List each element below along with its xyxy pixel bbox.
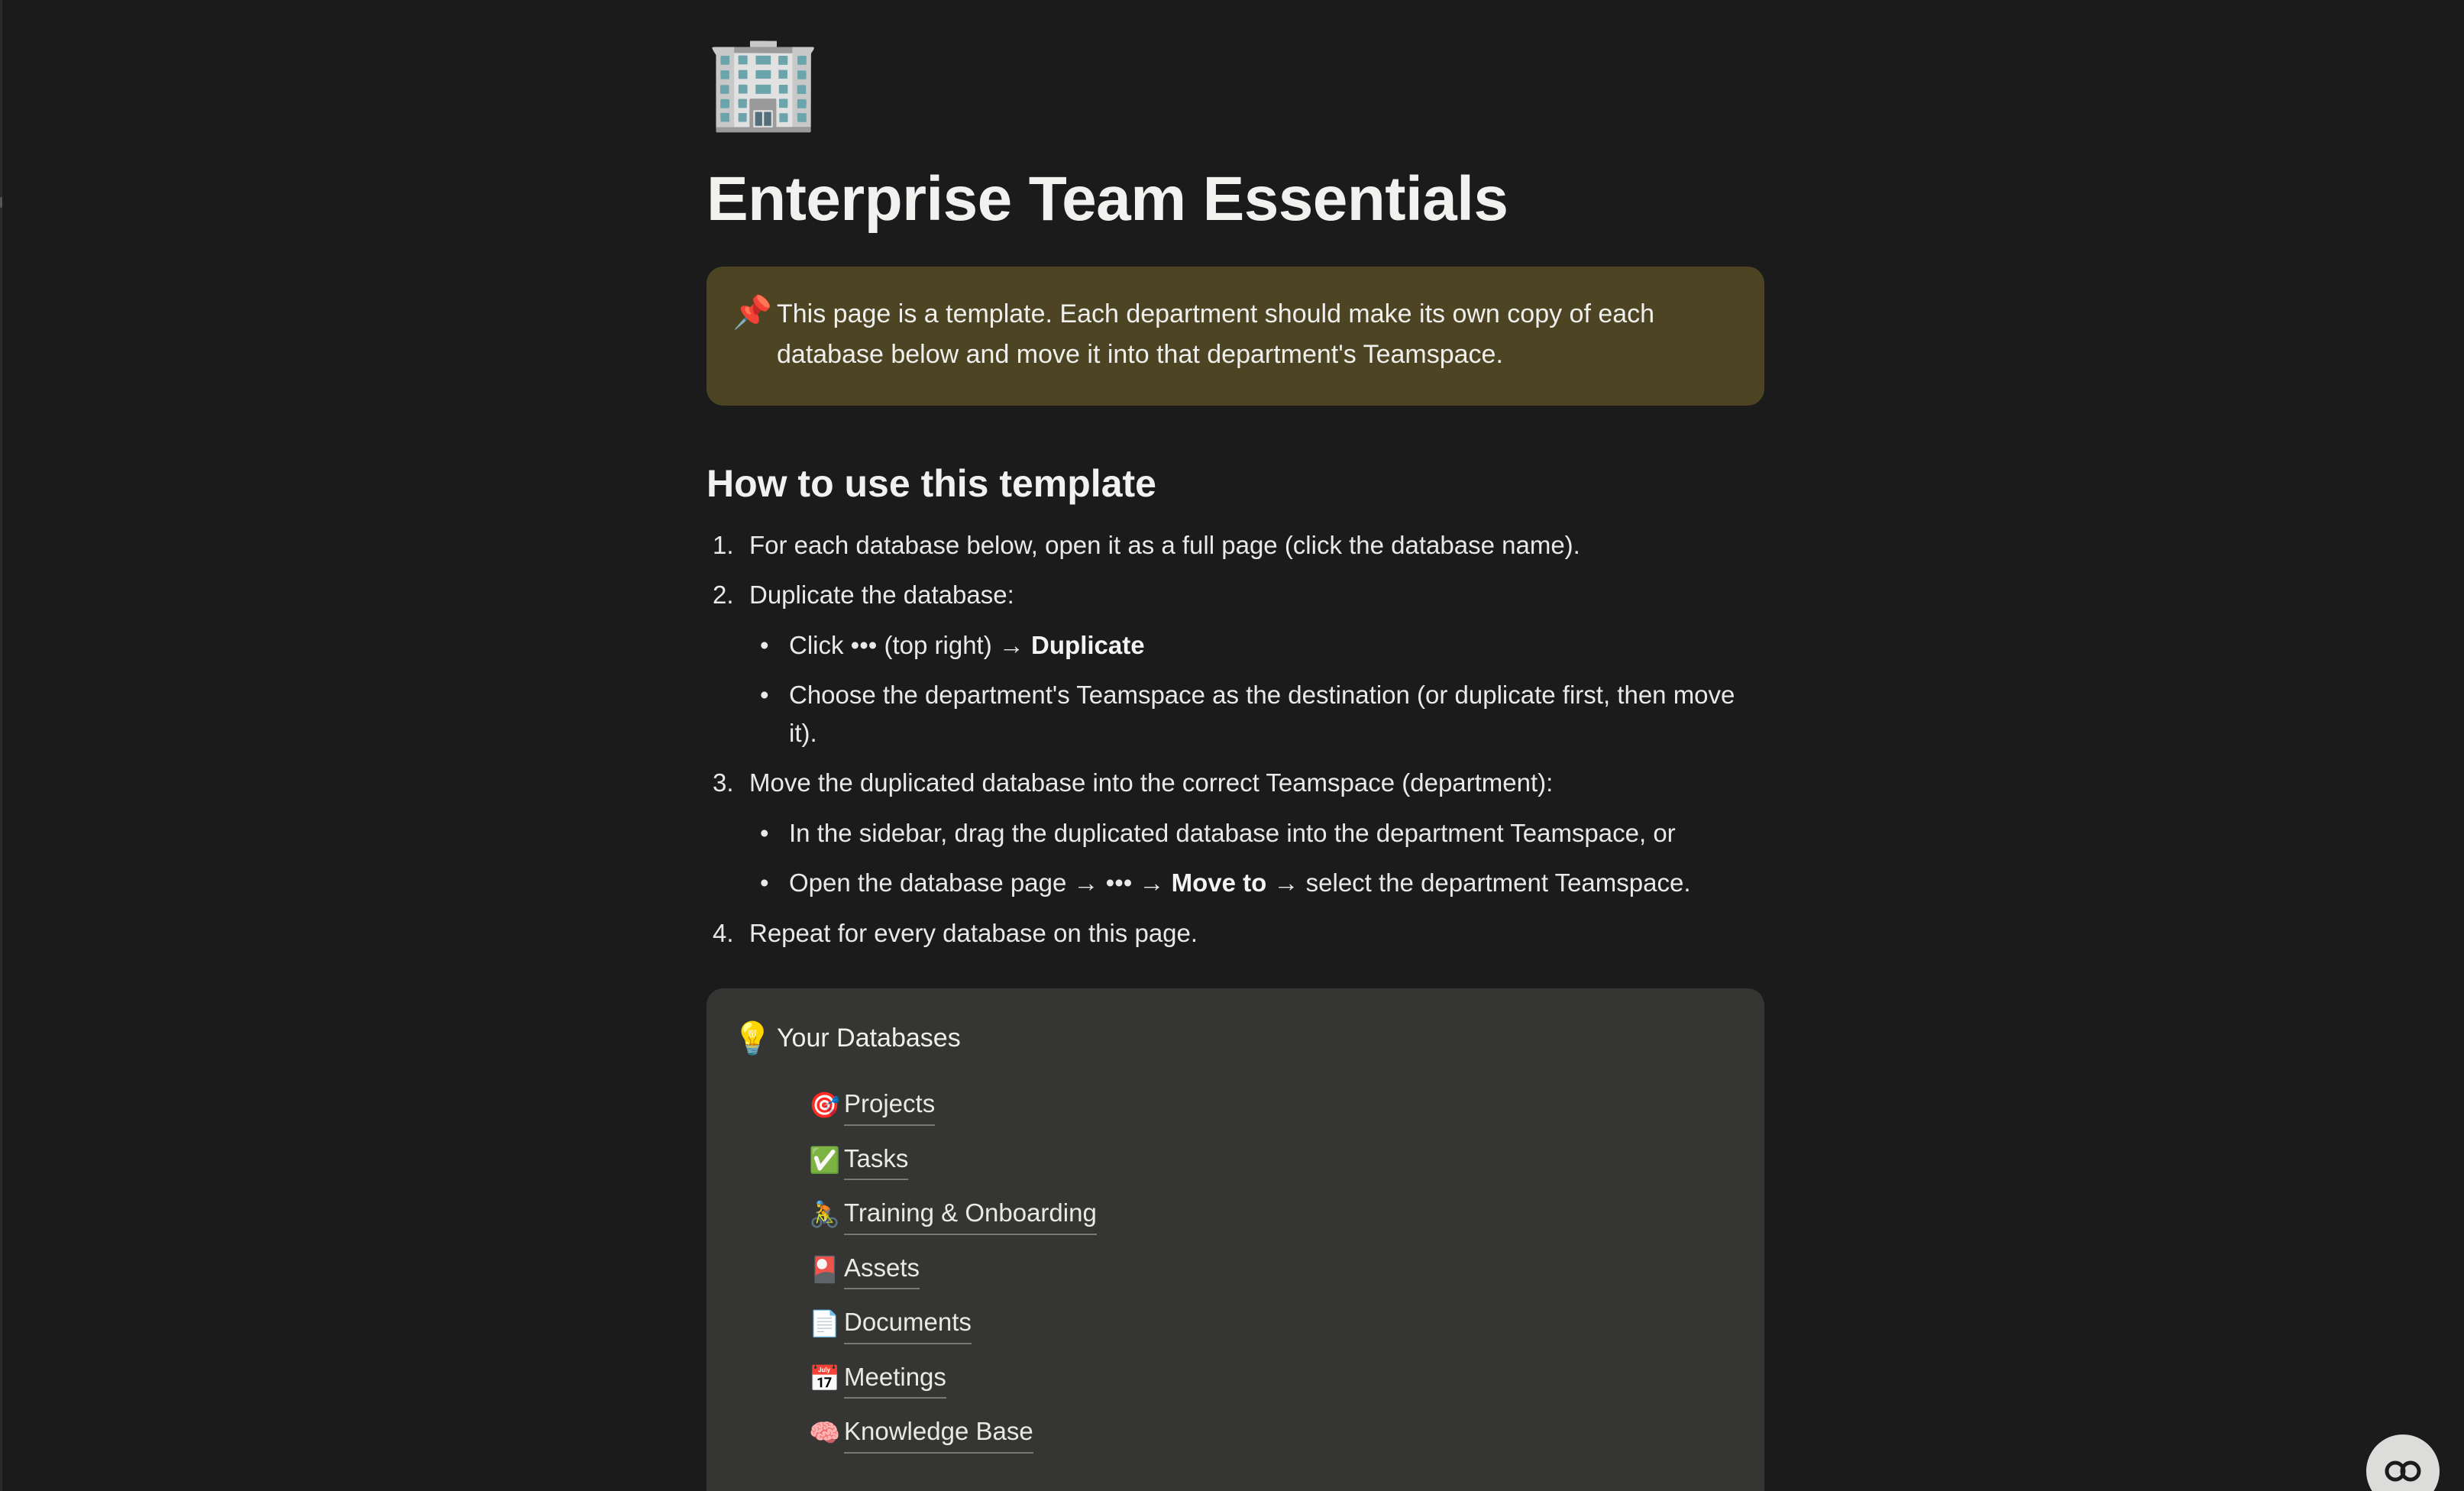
substep-bold-term: Duplicate bbox=[1031, 631, 1145, 659]
step-number: 1. bbox=[713, 526, 743, 564]
bullet-icon: • bbox=[760, 676, 769, 714]
step-text: Move the duplicated database into the co… bbox=[749, 768, 1553, 797]
substep-list: • Click ••• (top right) → Duplicate • Ch… bbox=[749, 626, 1764, 752]
template-notice-text: This page is a template. Each department… bbox=[777, 293, 1735, 374]
step-text: Repeat for every database on this page. bbox=[749, 919, 1198, 947]
check-mark-button-emoji: ✅ bbox=[809, 1141, 844, 1179]
databases-link-list: 🎯 Projects ✅ Tasks 🚴 Training & Onboardi… bbox=[777, 1085, 1735, 1454]
your-databases-callout: 💡 Your Databases 🎯 Projects ✅ Tasks bbox=[707, 988, 1764, 1491]
list-item[interactable]: 📅 Meetings bbox=[777, 1358, 1735, 1399]
step-number: 2. bbox=[713, 576, 743, 614]
databases-body: Your Databases 🎯 Projects ✅ Tasks 🚴 Tr bbox=[777, 1019, 1735, 1467]
database-link-projects[interactable]: Projects bbox=[844, 1085, 935, 1126]
substep-text: Choose the department's Teamspace as the… bbox=[789, 681, 1735, 747]
app-window: 🏢 Enterprise Team Essentials 📌 This page… bbox=[0, 0, 2464, 1491]
step-number: 4. bbox=[713, 914, 743, 952]
list-item[interactable]: 🎯 Projects bbox=[777, 1085, 1735, 1126]
database-link-knowledge-base[interactable]: Knowledge Base bbox=[844, 1412, 1033, 1454]
databases-title: Your Databases bbox=[777, 1019, 1735, 1057]
bullet-icon: • bbox=[760, 626, 769, 665]
step-text: For each database below, open it as a fu… bbox=[749, 531, 1580, 559]
list-item[interactable]: 🧠 Knowledge Base bbox=[777, 1412, 1735, 1454]
list-item: 3. Move the duplicated database into the… bbox=[707, 764, 1764, 902]
page-facing-up-emoji: 📄 bbox=[809, 1305, 844, 1343]
step-text: Duplicate the database: bbox=[749, 581, 1014, 609]
list-item[interactable]: 🎴 Assets bbox=[777, 1249, 1735, 1290]
step-number: 3. bbox=[713, 764, 743, 802]
list-item: • In the sidebar, drag the duplicated da… bbox=[749, 814, 1764, 852]
substep-text: In the sidebar, drag the duplicated data… bbox=[789, 819, 1676, 847]
pushpin-emoji: 📌 bbox=[732, 293, 777, 332]
database-link-documents[interactable]: Documents bbox=[844, 1303, 972, 1344]
list-item: 4. Repeat for every database on this pag… bbox=[707, 914, 1764, 952]
database-link-assets[interactable]: Assets bbox=[844, 1249, 920, 1290]
substep-bold-term: Move to bbox=[1172, 868, 1267, 897]
page-canvas: 🏢 Enterprise Team Essentials 📌 This page… bbox=[0, 0, 2464, 1491]
list-item[interactable]: ✅ Tasks bbox=[777, 1140, 1735, 1181]
brain-emoji: 🧠 bbox=[809, 1414, 844, 1452]
list-item: • Choose the department's Teamspace as t… bbox=[749, 676, 1764, 752]
list-item[interactable]: 📄 Documents bbox=[777, 1303, 1735, 1344]
how-to-steps-list: 1. For each database below, open it as a… bbox=[707, 526, 1764, 952]
substep-text-tail: → select the department Teamspace. bbox=[1266, 868, 1690, 897]
substep-list: • In the sidebar, drag the duplicated da… bbox=[749, 814, 1764, 902]
list-item: • Click ••• (top right) → Duplicate bbox=[749, 626, 1764, 665]
list-item: 2. Duplicate the database: • Click ••• (… bbox=[707, 576, 1764, 752]
office-building-emoji[interactable]: 🏢 bbox=[707, 37, 1764, 136]
bullet-icon: • bbox=[760, 814, 769, 852]
direct-hit-emoji: 🎯 bbox=[809, 1086, 844, 1124]
assistant-glyph-icon bbox=[2382, 1456, 2424, 1486]
list-item: • Open the database page → ••• → Move to… bbox=[749, 864, 1764, 902]
database-link-tasks[interactable]: Tasks bbox=[844, 1140, 908, 1181]
light-bulb-emoji: 💡 bbox=[732, 1019, 777, 1059]
page-content-column: 🏢 Enterprise Team Essentials 📌 This page… bbox=[707, 0, 1764, 1491]
person-biking-emoji: 🚴 bbox=[809, 1195, 844, 1234]
page-title[interactable]: Enterprise Team Essentials bbox=[707, 167, 1764, 233]
database-link-training-and-onboarding[interactable]: Training & Onboarding bbox=[844, 1194, 1097, 1235]
database-link-meetings[interactable]: Meetings bbox=[844, 1358, 946, 1399]
list-item: 1. For each database below, open it as a… bbox=[707, 526, 1764, 564]
substep-text: Click ••• (top right) → bbox=[789, 631, 1031, 659]
how-to-heading: How to use this template bbox=[707, 461, 1764, 506]
list-item[interactable]: 🚴 Training & Onboarding bbox=[777, 1194, 1735, 1235]
template-notice-callout: 📌 This page is a template. Each departme… bbox=[707, 267, 1764, 406]
calendar-emoji: 📅 bbox=[809, 1360, 844, 1398]
bullet-icon: • bbox=[760, 864, 769, 902]
substep-text: Open the database page → ••• → bbox=[789, 868, 1172, 897]
flower-playing-cards-emoji: 🎴 bbox=[809, 1250, 844, 1289]
